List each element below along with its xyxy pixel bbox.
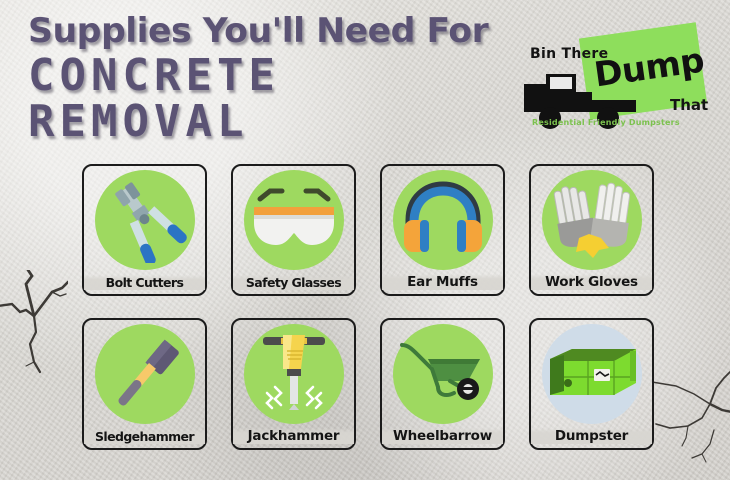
jackhammer-icon xyxy=(251,329,337,419)
bolt-cutters-icon xyxy=(102,177,188,263)
icon-disc xyxy=(542,324,642,424)
brand-logo[interactable]: Bin There Dump That Residential Friendly… xyxy=(522,24,712,136)
icon-disc xyxy=(393,170,493,270)
logo-tagline: Residential Friendly Dumpsters xyxy=(532,118,712,127)
supply-label: Sledgehammer xyxy=(84,429,205,444)
ear-muffs-icon xyxy=(400,180,486,260)
concrete-crack-right-decoration xyxy=(652,370,730,465)
supply-label: Wheelbarrow xyxy=(382,428,503,444)
logo-that-text: That xyxy=(670,96,708,114)
icon-disc xyxy=(95,324,195,424)
supply-card-jackhammer[interactable]: Jackhammer xyxy=(231,318,356,450)
concrete-crack-left-decoration xyxy=(0,270,68,410)
supply-label: Jackhammer xyxy=(233,428,354,444)
page-title: Supplies You'll Need For CONCRETE REMOVA… xyxy=(28,14,498,144)
title-line-1: Supplies You'll Need For xyxy=(28,14,507,48)
icon-disc xyxy=(95,170,195,270)
supply-label: Ear Muffs xyxy=(382,274,503,290)
supply-card-safety-glasses[interactable]: Safety Glasses xyxy=(231,164,356,296)
icon-disc xyxy=(244,170,344,270)
supply-card-wheelbarrow[interactable]: Wheelbarrow xyxy=(380,318,505,450)
dumpster-icon xyxy=(544,339,640,409)
supply-card-sledgehammer[interactable]: Sledgehammer xyxy=(82,318,207,450)
wheelbarrow-icon xyxy=(398,339,488,409)
supply-label: Safety Glasses xyxy=(233,275,354,290)
supply-label: Dumpster xyxy=(531,428,652,444)
supply-card-bolt-cutters[interactable]: Bolt Cutters xyxy=(82,164,207,296)
icon-disc xyxy=(244,324,344,424)
supply-label: Work Gloves xyxy=(531,274,652,290)
title-line-3: REMOVAL xyxy=(28,100,498,144)
supply-card-work-gloves[interactable]: Work Gloves xyxy=(529,164,654,296)
title-line-2: CONCRETE xyxy=(28,54,498,98)
work-gloves-icon xyxy=(549,180,635,260)
infographic-canvas: Supplies You'll Need For CONCRETE REMOVA… xyxy=(0,0,730,480)
supply-card-ear-muffs[interactable]: Ear Muffs xyxy=(380,164,505,296)
supplies-grid: Bolt Cutters Safety Glasses xyxy=(82,164,654,450)
icon-disc xyxy=(542,170,642,270)
supply-card-dumpster[interactable]: Dumpster xyxy=(529,318,654,450)
sledgehammer-icon xyxy=(102,331,188,417)
supply-label: Bolt Cutters xyxy=(84,275,205,290)
icon-disc xyxy=(393,324,493,424)
safety-glasses-icon xyxy=(248,185,340,255)
